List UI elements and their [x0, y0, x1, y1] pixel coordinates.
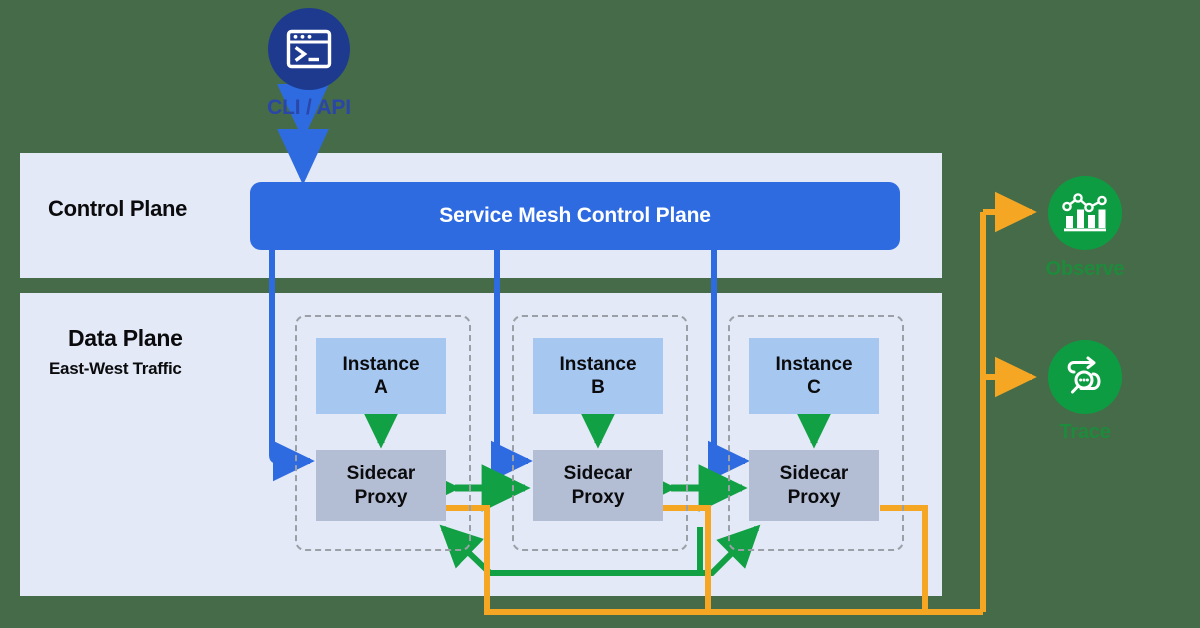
sidecar-proxy-b-label: Sidecar Proxy: [564, 462, 633, 508]
cli-api-icon-circle[interactable]: [268, 8, 350, 90]
instance-b-label: Instance B: [559, 353, 636, 399]
trace-label: Trace: [1020, 421, 1150, 443]
service-mesh-control-plane-box[interactable]: Service Mesh Control Plane: [250, 182, 900, 250]
data-plane-sublabel: East-West Traffic: [49, 359, 182, 379]
instance-c-box[interactable]: Instance C: [749, 338, 879, 414]
service-mesh-control-plane-label: Service Mesh Control Plane: [439, 204, 710, 228]
diagram-canvas: Control Plane Service Mesh Control Plane…: [0, 0, 1200, 628]
trace-magnifier-icon: [1061, 355, 1109, 399]
control-plane-label: Control Plane: [48, 196, 187, 222]
observe-label: Observe: [1020, 258, 1150, 280]
cli-api-label: CLI / API: [248, 96, 370, 120]
sidecar-proxy-c-label: Sidecar Proxy: [780, 462, 849, 508]
data-plane-label: Data Plane: [68, 325, 183, 352]
sidecar-proxy-c-box[interactable]: Sidecar Proxy: [749, 450, 879, 521]
observe-icon-circle[interactable]: [1048, 176, 1122, 250]
trace-icon-circle[interactable]: [1048, 340, 1122, 414]
instance-b-box[interactable]: Instance B: [533, 338, 663, 414]
instance-a-label: Instance A: [342, 353, 419, 399]
sidecar-proxy-b-box[interactable]: Sidecar Proxy: [533, 450, 663, 521]
sidecar-proxy-a-box[interactable]: Sidecar Proxy: [316, 450, 446, 521]
sidecar-proxy-a-label: Sidecar Proxy: [347, 462, 416, 508]
bar-chart-analytics-icon: [1062, 192, 1108, 234]
terminal-window-icon: [286, 29, 332, 69]
instance-c-label: Instance C: [775, 353, 852, 399]
instance-a-box[interactable]: Instance A: [316, 338, 446, 414]
